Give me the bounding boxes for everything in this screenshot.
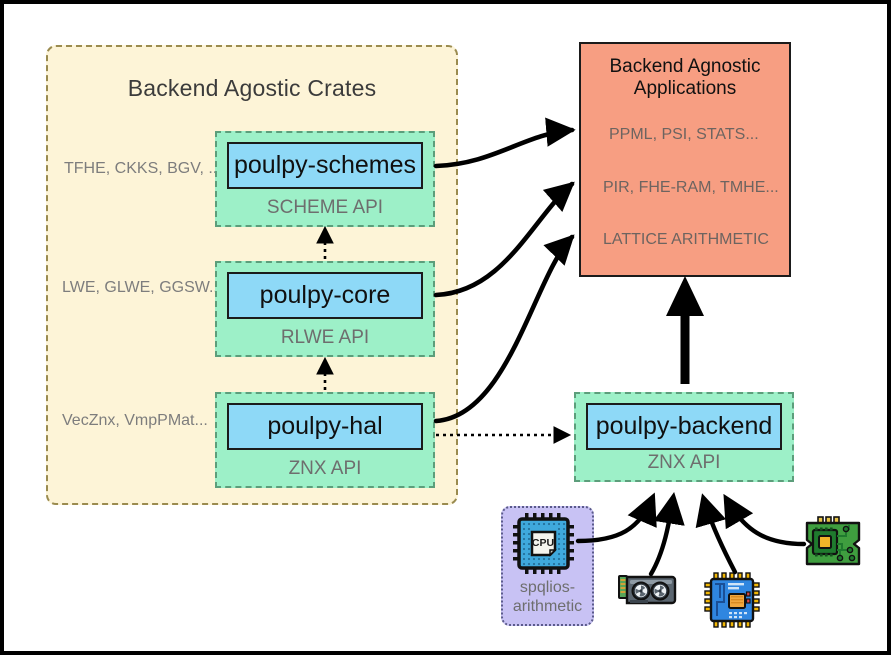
side-label-schemes: TFHE, CKKS, BGV, ... xyxy=(64,160,214,178)
crate-poulpy-backend[interactable]: poulpy-backend xyxy=(586,403,782,450)
api-label-znx-hal: ZNX API xyxy=(217,458,433,480)
applications-title-line1: Backend Agnostic xyxy=(609,56,760,77)
api-label-rlwe: RLWE API xyxy=(217,327,433,349)
crates-panel-title: Backend Agostic Crates xyxy=(48,75,456,102)
gpu-card-icon xyxy=(618,570,680,617)
layer-poulpy-core: poulpy-core RLWE API xyxy=(215,261,435,357)
crate-poulpy-core[interactable]: poulpy-core xyxy=(227,272,423,319)
applications-panel-title: Backend Agnostic Applications xyxy=(589,56,781,100)
layer-poulpy-schemes: poulpy-schemes SCHEME API xyxy=(215,131,435,227)
connector-backend-to-applications-head xyxy=(666,276,704,316)
application-item-ppml: PPML, PSI, STATS... xyxy=(609,126,783,144)
backend-agnostic-applications-panel: Backend Agnostic Applications PPML, PSI,… xyxy=(579,42,791,277)
cpu-chip-icon: CPU xyxy=(512,512,578,581)
crate-poulpy-hal[interactable]: poulpy-hal xyxy=(227,403,423,450)
layer-poulpy-hal: poulpy-hal ZNX API xyxy=(215,392,435,488)
crate-poulpy-schemes[interactable]: poulpy-schemes xyxy=(227,142,423,189)
circuit-board-icon xyxy=(804,516,862,573)
connector-fpga-to-backend xyxy=(704,500,735,572)
application-item-pir: PIR, FHE-RAM, TMHE... xyxy=(603,179,783,197)
spqlios-label-line1: spqlios- xyxy=(520,579,575,596)
spqlios-label-line2: arithmetic xyxy=(513,598,582,615)
side-label-core: LWE, GLWE, GGSW... xyxy=(62,279,217,297)
applications-title-line2: Applications xyxy=(634,78,736,99)
diagram-canvas: Backend Agostic Crates TFHE, CKKS, BGV, … xyxy=(0,0,891,655)
application-item-lattice: LATTICE ARITHMETIC xyxy=(603,231,783,249)
fpga-chip-icon xyxy=(704,572,762,633)
connector-gpu-to-backend xyxy=(651,499,673,574)
spqlios-label: spqlios- arithmetic xyxy=(505,578,590,616)
connector-circuitboard-to-backend xyxy=(727,500,804,544)
api-label-znx-backend: ZNX API xyxy=(576,452,792,474)
layer-poulpy-backend: poulpy-backend ZNX API xyxy=(574,392,794,482)
api-label-scheme: SCHEME API xyxy=(217,197,433,219)
side-label-hal: VecZnx, VmpPMat... xyxy=(62,412,222,430)
svg-text:CPU: CPU xyxy=(532,537,554,549)
